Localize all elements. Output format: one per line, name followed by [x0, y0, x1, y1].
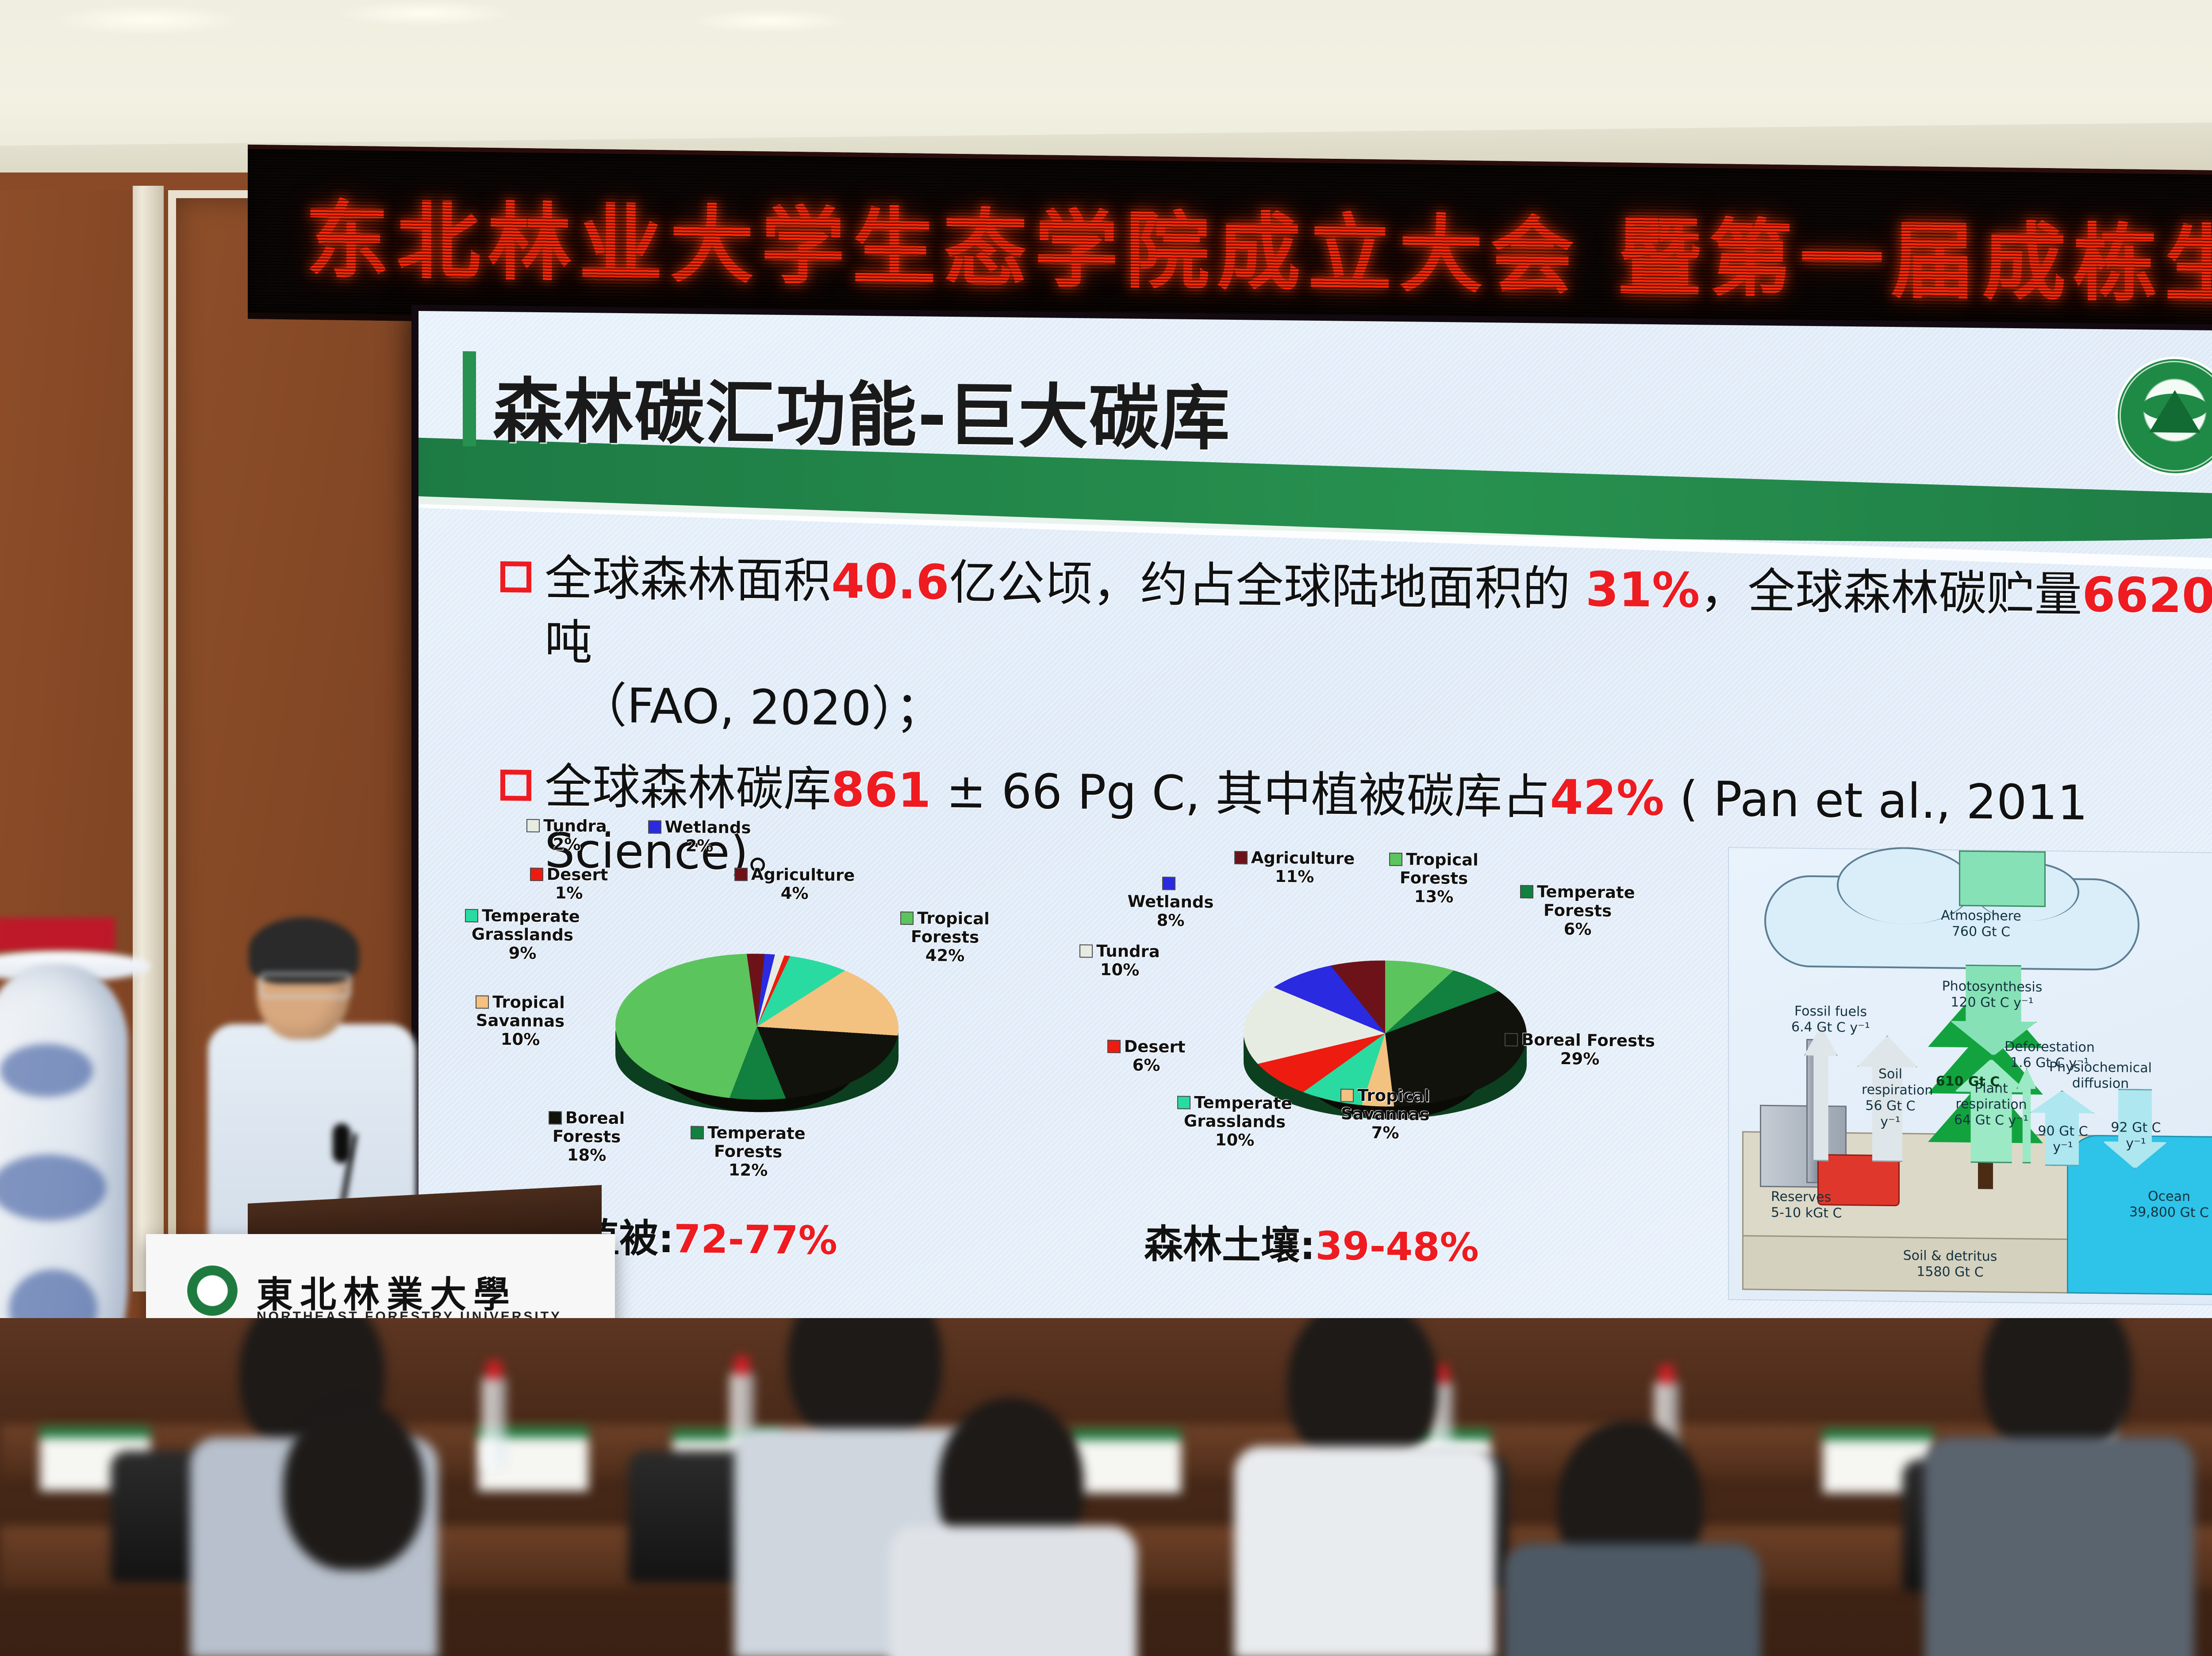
- label-pct: 11%: [1275, 867, 1314, 886]
- b1-p4: ，全球森林碳贮量: [1700, 563, 2082, 622]
- reserves-value: 5-10 kGt C: [1771, 1205, 1842, 1221]
- title-accent-bar: [463, 351, 476, 446]
- label-pct: 18%: [567, 1145, 607, 1165]
- diffusion-down-value: 92 Gt C y⁻¹: [2107, 1119, 2165, 1152]
- label-text: Tropical Savannas: [476, 993, 565, 1031]
- photosynthesis-label: Photosynthesis: [1942, 978, 2043, 995]
- soil-detritus-label: Soil & detritus: [1903, 1248, 1997, 1264]
- pie-chart-soil: Agriculture11% Tropical Forests13% Tempe…: [1078, 822, 1693, 1271]
- vase-pattern: [0, 1044, 93, 1097]
- audience-area: [0, 1318, 2212, 1656]
- water-bottle: [482, 1376, 506, 1468]
- label-pct: 10%: [501, 1030, 540, 1049]
- label-text: Wetlands: [1128, 892, 1214, 912]
- label-text: Tropical Forests: [1400, 850, 1479, 888]
- pie2-label-tundra: Tundra10%: [1078, 942, 1162, 980]
- vegetation-carbon-value: 610 Gt C: [1924, 1073, 2012, 1090]
- ocean-label: Ocean: [2148, 1188, 2190, 1204]
- atmosphere-value: 760 Gt C: [1952, 924, 2010, 939]
- label-pct: 2%: [553, 835, 581, 854]
- projection-screen-frame: 森林碳汇功能-巨大碳库 全球森林面积40.6亿公顷，约占全球陆地面积的 31%，…: [411, 305, 2212, 1373]
- attendee-head: [283, 1402, 425, 1570]
- label-text: Tundra: [1096, 942, 1160, 962]
- ocean-value: 39,800 Gt C: [2129, 1204, 2209, 1221]
- b1-p2: 亿公顷，约占全球陆地面积的: [949, 555, 1585, 617]
- temperate-forests-swatch-icon: [1520, 885, 1533, 898]
- speaker-glasses: [260, 973, 351, 998]
- led-banner-text: 东北林业大学生态学院成立大会 暨第一届成栋生态讲坛: [305, 172, 2212, 323]
- b1-p5: 6620: [2082, 567, 2212, 624]
- label-text: Temperate Grasslands: [472, 906, 580, 945]
- tundra-swatch-icon: [526, 819, 540, 832]
- label-pct: 2%: [686, 836, 714, 855]
- vase-pattern: [0, 1154, 106, 1221]
- diffusion-up-value: 90 Gt C y⁻¹: [2034, 1123, 2092, 1155]
- presentation-slide: 森林碳汇功能-巨大碳库 全球森林面积40.6亿公顷，约占全球陆地面积的 31%，…: [419, 311, 2212, 1362]
- fossil-fuels-value: 6.4 Gt C y⁻¹: [1791, 1020, 1870, 1036]
- caption-value: 39-48%: [1315, 1223, 1479, 1270]
- pie2-label-temperate-grasslands: Temperate Grasslands10%: [1168, 1093, 1301, 1150]
- label-pct: 42%: [926, 946, 965, 965]
- label-pct: 9%: [509, 943, 537, 963]
- soil-detritus-value: 1580 Gt C: [1916, 1264, 1983, 1280]
- wetlands-swatch-icon: [1162, 877, 1175, 890]
- label-text: Wetlands: [665, 817, 751, 837]
- pie1-label-desert: Desert1%: [520, 865, 618, 903]
- slide-title: 森林碳汇功能-巨大碳库: [493, 354, 1231, 464]
- b1-p0: 全球森林面积: [545, 551, 831, 609]
- b1-p1: 40.6: [831, 554, 949, 610]
- carbon-cycle-diagram: Atmosphere 760 Gt C Photosynthesis 120 G…: [1728, 847, 2212, 1306]
- caption-value: 72-77%: [674, 1216, 837, 1263]
- b1-p3: 31%: [1586, 562, 1700, 619]
- tropical-savannas-swatch-icon: [1340, 1089, 1354, 1102]
- tundra-swatch-icon: [1079, 944, 1093, 958]
- nefu-logo: [186, 1264, 239, 1317]
- ceiling-light: [53, 4, 243, 35]
- pie1-label-tropical-savannas: Tropical Savannas10%: [454, 993, 587, 1050]
- attendee-body: [889, 1526, 1137, 1656]
- pie2-label-agriculture: Agriculture11%: [1228, 848, 1361, 887]
- b2-p2: ± 66 Pg C, 其中植被碳库占: [931, 763, 1550, 825]
- label-text: Boreal Forests: [553, 1108, 625, 1146]
- temperate-forests-swatch-icon: [691, 1126, 704, 1139]
- boreal-forests-swatch-icon: [549, 1111, 562, 1124]
- pie2-label-tropical-forests: Tropical Forests13%: [1379, 850, 1489, 906]
- atmosphere-label: Atmosphere: [1941, 908, 2021, 924]
- chinese-academy-of-forestry-logo: [2115, 356, 2212, 476]
- attendee-head: [1287, 1318, 1438, 1468]
- label-pct: 10%: [1215, 1130, 1255, 1150]
- label-text: Desert: [1124, 1037, 1186, 1057]
- pie-1-graphic: [615, 952, 899, 1115]
- label-pct: 10%: [1100, 960, 1140, 979]
- physiochemical-diffusion-label: Physiochemical diffusion: [2039, 1059, 2162, 1092]
- boreal-forests-swatch-icon: [1505, 1033, 1518, 1046]
- label-text: Agriculture: [751, 865, 855, 885]
- label-pct: 13%: [1414, 887, 1454, 906]
- bullet-square-icon: [500, 561, 531, 593]
- pie1-label-tropical-forests: Tropical Forests42%: [883, 908, 1007, 965]
- pie1-label-wetlands: Wetlands2%: [644, 817, 755, 855]
- label-pct: 7%: [1371, 1123, 1399, 1142]
- conference-hall-photo: 东北林业大学生态学院成立大会 暨第一届成栋生态讲坛 森林碳汇功能-巨大碳库 全球…: [0, 0, 2212, 1656]
- slide-charts-row: Tundra2% Wetlands2% Desert1% Agriculture…: [419, 815, 2212, 1357]
- pie2-label-wetlands: Wetlands8%: [1120, 874, 1221, 930]
- label-pct: 6%: [1133, 1055, 1160, 1075]
- b2-p0: 全球森林碳库: [545, 759, 831, 817]
- label-text: Temperate Forests: [707, 1123, 806, 1161]
- pie2-caption: 森林土壤:39-48%: [1144, 1213, 1479, 1273]
- pie1-label-temperate-forests: Temperate Forests12%: [684, 1123, 812, 1180]
- deforestation-label: Deforestation: [2005, 1039, 2095, 1055]
- fossil-fuels-label: Fossil fuels: [1794, 1004, 1867, 1020]
- pie2-label-desert: Desert6%: [1104, 1037, 1188, 1075]
- agriculture-swatch-icon: [1234, 851, 1248, 864]
- attendee-body: [1924, 1437, 2194, 1656]
- label-text: Temperate Grasslands: [1184, 1093, 1292, 1131]
- label-pct: 29%: [1560, 1049, 1600, 1069]
- pie1-label-agriculture: Agriculture4%: [728, 865, 861, 904]
- pie1-label-tundra: Tundra2%: [516, 816, 618, 854]
- name-card: [1071, 1429, 1181, 1493]
- label-text: Tundra: [543, 816, 607, 836]
- pie1-label-temperate-grasslands: Temperate Grasslands9%: [449, 906, 595, 963]
- label-pct: 1%: [555, 883, 583, 903]
- pie2-label-tropical-savannas: Tropical Savannas7%: [1323, 1086, 1447, 1142]
- label-text: Temperate Forests: [1537, 882, 1635, 920]
- photosynthesis-value: 120 Gt C y⁻¹: [1951, 994, 2033, 1011]
- microphone-head: [333, 1123, 350, 1163]
- temperate-grasslands-swatch-icon: [1177, 1096, 1190, 1109]
- label-pct: 6%: [1564, 920, 1592, 939]
- atmosphere-inflow-arrow: [1959, 851, 2046, 907]
- logo-tree: [2149, 390, 2200, 433]
- ceiling-light: [336, 0, 513, 27]
- label-text: Tropical Savannas: [1341, 1086, 1430, 1124]
- label-pct: 8%: [1157, 911, 1185, 930]
- label-text: Agriculture: [1251, 848, 1355, 868]
- b2-p3: 42%: [1550, 770, 1664, 827]
- label-text: Desert: [547, 865, 608, 885]
- reserves-label: Reserves: [1771, 1189, 1831, 1205]
- pie2-label-temperate-forests: Temperate Forests6%: [1513, 882, 1642, 939]
- bullet-square-icon: [500, 770, 531, 801]
- label-pct: 4%: [781, 884, 809, 903]
- label-text: Boreal Forests: [1521, 1030, 1655, 1050]
- attendee-body: [1234, 1446, 1495, 1656]
- b2-p1: 861: [831, 762, 931, 818]
- tropical-forests-swatch-icon: [900, 912, 914, 925]
- soil-respiration-value: 56 Gt C y⁻¹: [1865, 1098, 1915, 1130]
- caption-label: 森林土壤:: [1144, 1221, 1315, 1269]
- wall-column-trim: [133, 186, 164, 1292]
- desert-swatch-icon: [1107, 1040, 1121, 1053]
- desert-swatch-icon: [530, 868, 543, 881]
- ceiling-light: [690, 9, 849, 33]
- wetlands-swatch-icon: [648, 820, 661, 834]
- tropical-savannas-swatch-icon: [476, 995, 489, 1008]
- temperate-grasslands-swatch-icon: [465, 909, 478, 922]
- pie1-label-boreal-forests: Boreal Forests18%: [527, 1108, 646, 1165]
- pie2-label-boreal-forests: Boreal Forests29%: [1498, 1030, 1662, 1069]
- label-pct: 12%: [729, 1160, 768, 1180]
- plant-respiration-value: 64 Gt C y⁻¹: [1954, 1112, 2028, 1129]
- label-text: Tropical Forests: [911, 908, 990, 947]
- bullet-item-1: 全球森林面积40.6亿公顷，约占全球陆地面积的 31%，全球森林碳贮量6620亿…: [500, 546, 2212, 755]
- agriculture-swatch-icon: [734, 868, 748, 881]
- red-wall-sign: [0, 918, 115, 951]
- attendee-body: [1504, 1544, 1761, 1656]
- tropical-forests-swatch-icon: [1389, 853, 1402, 866]
